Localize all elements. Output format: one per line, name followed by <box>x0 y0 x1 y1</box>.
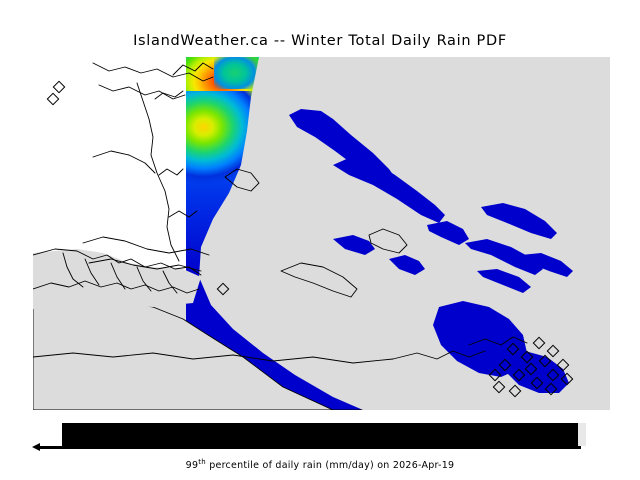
colorbar-caption: 99th percentile of daily rain (mm/day) o… <box>0 458 640 471</box>
colorbar <box>62 423 578 446</box>
colorbar-arrow-icon <box>32 443 40 451</box>
colorbar-axis-line <box>36 446 581 449</box>
caption-text: percentile of daily rain (mm/day) on 202… <box>206 460 454 471</box>
colorbar-overflow-swatch <box>578 423 586 446</box>
caption-ordinal-suffix: th <box>198 458 206 466</box>
outside-domain-region-upper <box>33 57 73 207</box>
rainfall-north-patch <box>214 57 260 89</box>
weather-map-page: IslandWeather.ca -- Winter Total Daily R… <box>0 0 640 480</box>
rainfall-secondary-hotspot <box>186 91 266 211</box>
caption-percentile-number: 99 <box>186 460 199 471</box>
page-title: IslandWeather.ca -- Winter Total Daily R… <box>0 33 640 49</box>
colorbar-gradient <box>62 423 578 446</box>
rainfall-data-field <box>186 57 610 410</box>
map-panel[interactable] <box>33 57 610 410</box>
